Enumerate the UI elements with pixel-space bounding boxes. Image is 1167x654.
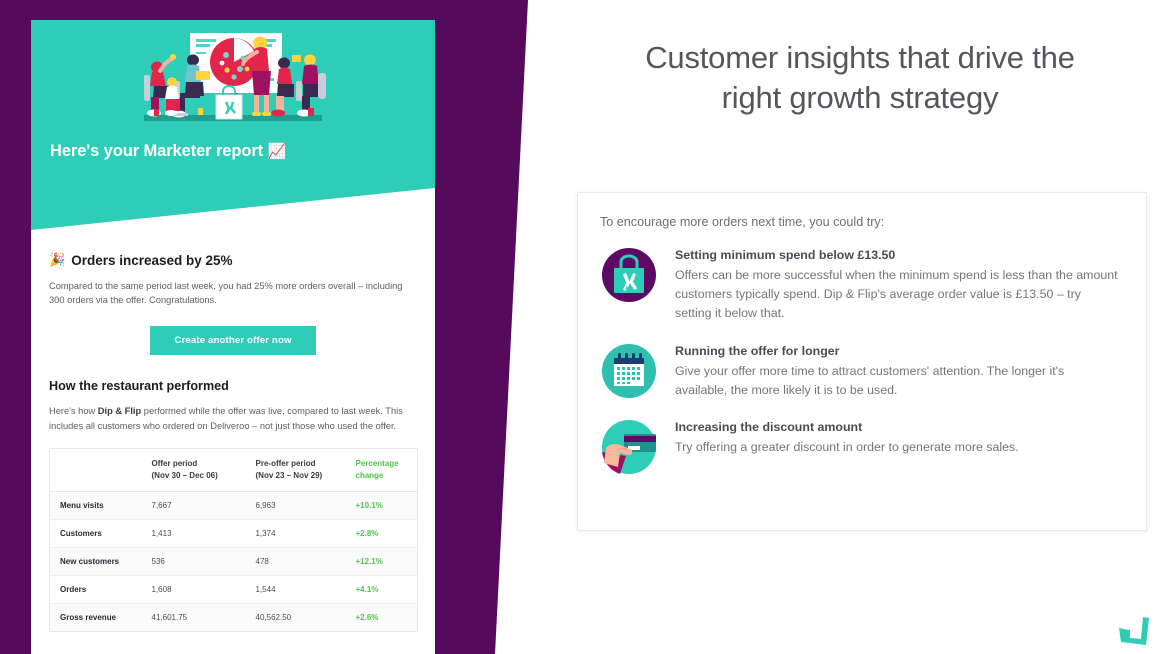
cell-offer: 1,413 (152, 519, 256, 547)
orders-increase-paragraph: Compared to the same period last week, y… (49, 279, 417, 308)
table-row: Gross revenue41,601.7540,562.50+2.6% (50, 603, 418, 631)
shopping-bag-icon (600, 246, 658, 304)
tip-body: Try offering a greater discount in order… (675, 438, 1120, 457)
cell-preoffer: 40,562.50 (256, 603, 356, 631)
cell-offer: 41,601.75 (152, 603, 256, 631)
calendar-icon (600, 342, 658, 400)
cell-offer: 7,667 (152, 491, 256, 519)
cell-preoffer: 6,963 (256, 491, 356, 519)
cell-metric: Customers (50, 519, 152, 547)
hero-title-text: Here's your Marketer report (50, 142, 263, 160)
tip-body: Offers can be more successful when the m… (675, 266, 1120, 324)
perf-intro-before: Here's how (49, 406, 98, 416)
orders-increase-heading: 🎉 Orders increased by 25% (49, 252, 417, 268)
cell-metric: Orders (50, 575, 152, 603)
cell-change: +4.1% (356, 575, 418, 603)
header-offer-period-line2: (Nov 30 – Dec 06) (152, 470, 250, 482)
restaurant-name: Dip & Flip (98, 406, 141, 416)
party-popper-emoji: 🎉 (49, 252, 65, 268)
table-header-row: Offer period (Nov 30 – Dec 06) Pre-offer… (50, 448, 418, 491)
slide-canvas: Here's your Marketer report 📈 🎉 Orders i… (0, 0, 1167, 654)
tip-title: Increasing the discount amount (675, 420, 1120, 434)
tip-title: Running the offer for longer (675, 344, 1120, 358)
cell-preoffer: 1,374 (256, 519, 356, 547)
header-offer-period-line1: Offer period (152, 458, 250, 470)
tips-card: To encourage more orders next time, you … (577, 192, 1147, 531)
table-row: Customers1,4131,374+2.8% (50, 519, 418, 547)
header-percentage-change-line1: Percentage (356, 458, 412, 470)
tip-text: Running the offer for longerGive your of… (675, 340, 1120, 400)
chart-increasing-emoji: 📈 (268, 143, 287, 160)
performance-paragraph: Here's how Dip & Flip performed while th… (49, 404, 417, 434)
page-title-line-2: right growth strategy (560, 78, 1160, 118)
cell-change: +2.6% (356, 603, 418, 631)
performance-table: Offer period (Nov 30 – Dec 06) Pre-offer… (49, 448, 418, 632)
tip-title: Setting minimum spend below £13.50 (675, 248, 1120, 262)
tip-body: Give your offer more time to attract cus… (675, 362, 1120, 400)
cell-change: +10.1% (356, 491, 418, 519)
header-preoffer-period-line2: (Nov 23 – Nov 29) (256, 470, 350, 482)
tip-row: Setting minimum spend below £13.50Offers… (600, 244, 1120, 324)
email-hero-title: Here's your Marketer report 📈 (50, 142, 286, 161)
tip-row: Increasing the discount amountTry offeri… (600, 416, 1120, 476)
header-preoffer-period-line1: Pre-offer period (256, 458, 350, 470)
tip-text: Increasing the discount amountTry offeri… (675, 416, 1120, 457)
tip-row: Running the offer for longerGive your of… (600, 340, 1120, 400)
email-hero-banner: Here's your Marketer report 📈 (31, 20, 435, 252)
team-meeting-illustration (130, 25, 335, 133)
performance-heading: How the restaurant performed (49, 379, 417, 393)
table-row: Orders1,6081,544+4.1% (50, 575, 418, 603)
cell-preoffer: 1,544 (256, 575, 356, 603)
tip-text: Setting minimum spend below £13.50Offers… (675, 244, 1120, 324)
cell-metric: Gross revenue (50, 603, 152, 631)
credit-card-hand-icon (600, 418, 658, 476)
table-row: New customers536478+12.1% (50, 547, 418, 575)
performance-table-body: Menu visits7,6676,963+10.1%Customers1,41… (50, 491, 418, 631)
cell-offer: 1,608 (152, 575, 256, 603)
header-preoffer-period: Pre-offer period (Nov 23 – Nov 29) (256, 448, 356, 491)
cell-change: +2.8% (356, 519, 418, 547)
page-title: Customer insights that drive the right g… (560, 38, 1160, 117)
header-metric (50, 448, 152, 491)
create-another-offer-button[interactable]: Create another offer now (150, 326, 315, 355)
tips-list: Setting minimum spend below £13.50Offers… (600, 244, 1120, 476)
cell-change: +12.1% (356, 547, 418, 575)
cell-metric: Menu visits (50, 491, 152, 519)
performance-table-head: Offer period (Nov 30 – Dec 06) Pre-offer… (50, 448, 418, 491)
email-body: 🎉 Orders increased by 25% Compared to th… (31, 252, 435, 632)
orders-increase-heading-text: Orders increased by 25% (71, 253, 232, 268)
tips-intro-text: To encourage more orders next time, you … (600, 215, 1120, 229)
cell-preoffer: 478 (256, 547, 356, 575)
cta-container: Create another offer now (49, 326, 417, 355)
header-offer-period: Offer period (Nov 30 – Dec 06) (152, 448, 256, 491)
table-row: Menu visits7,6676,963+10.1% (50, 491, 418, 519)
page-title-line-1: Customer insights that drive the (560, 38, 1160, 78)
cell-offer: 536 (152, 547, 256, 575)
deliveroo-logo (1115, 612, 1149, 646)
marketer-report-email-card: Here's your Marketer report 📈 🎉 Orders i… (31, 20, 435, 654)
cell-metric: New customers (50, 547, 152, 575)
header-percentage-change: Percentage change (356, 448, 418, 491)
header-percentage-change-line2: change (356, 470, 412, 482)
